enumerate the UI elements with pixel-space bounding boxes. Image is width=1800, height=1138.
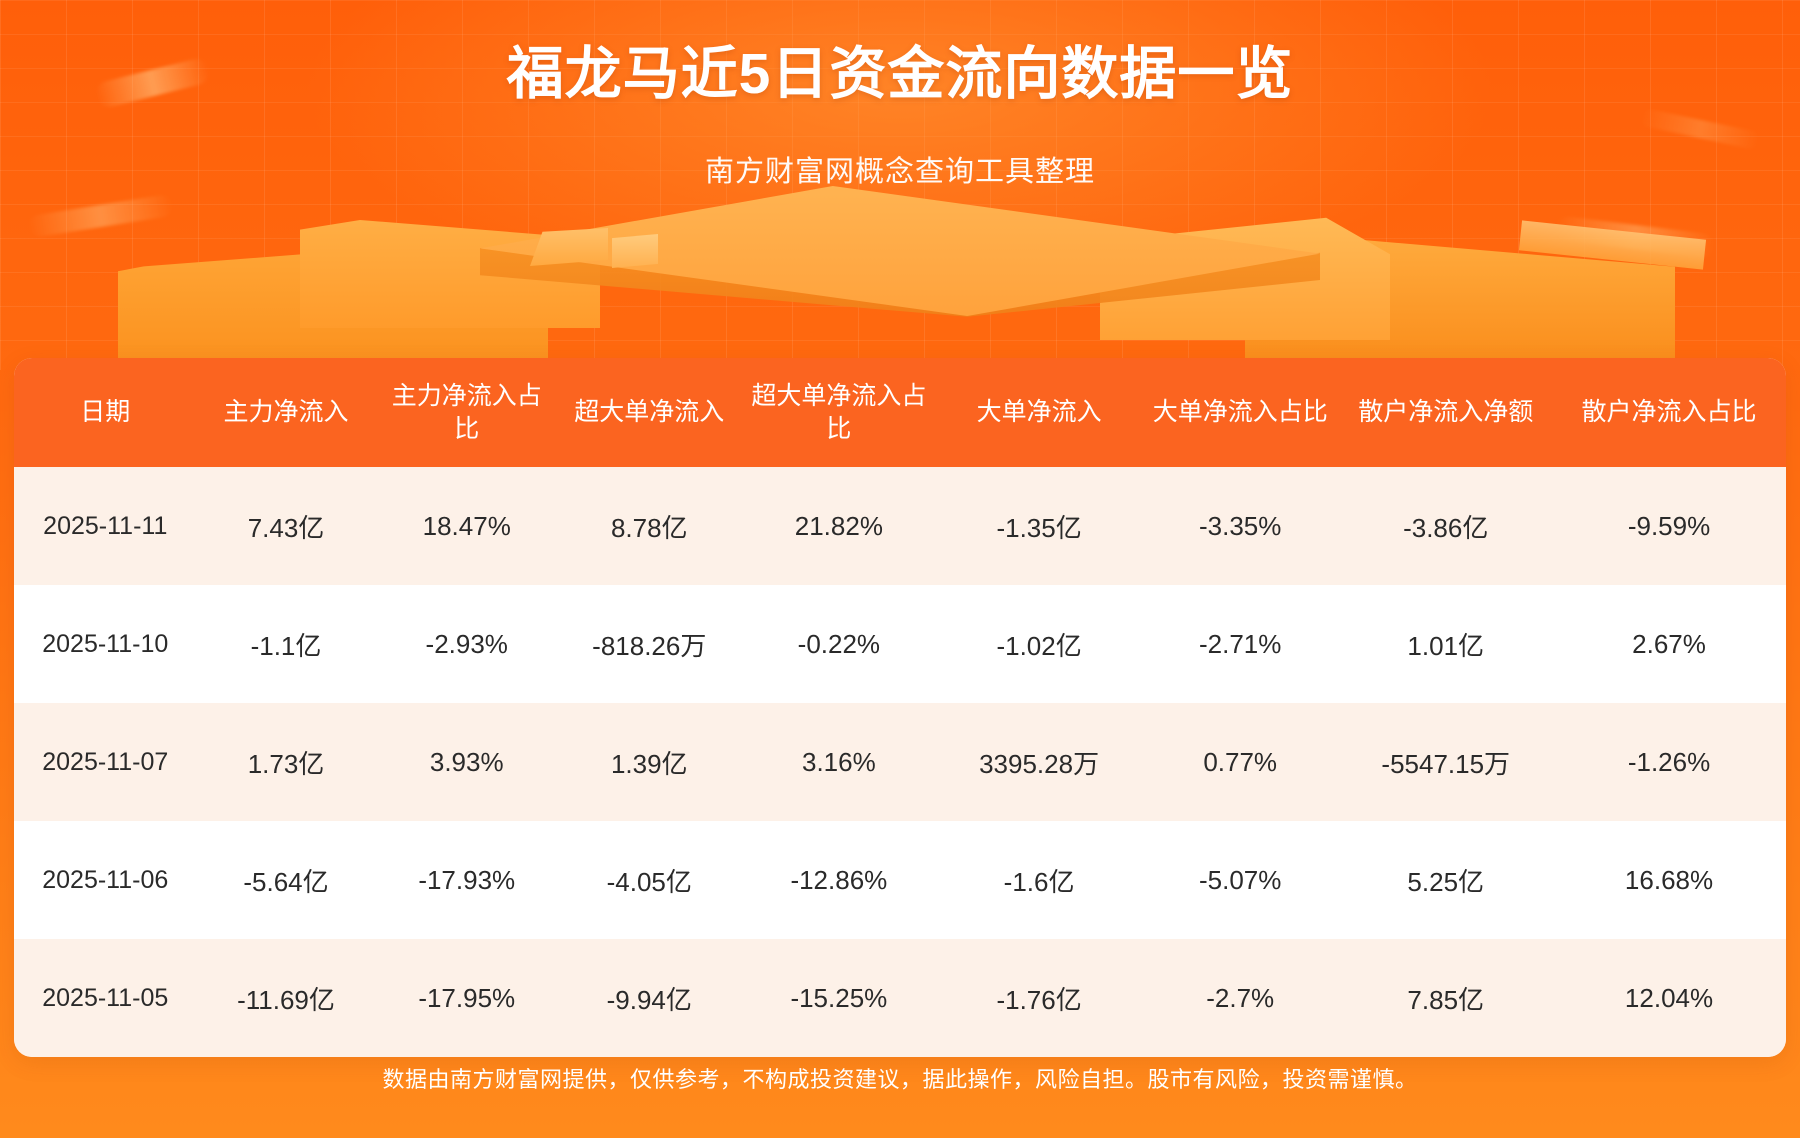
cell-xl-net: -818.26万 <box>558 585 741 703</box>
poster-root: 福龙马近5日资金流向数据一览 南方财富网概念查询工具整理 南方财富网 South… <box>0 0 1800 1138</box>
cell-lg-pct: -5.07% <box>1141 821 1339 939</box>
cell-retail-net: -3.86亿 <box>1339 467 1552 585</box>
cell-xl-net: 8.78亿 <box>558 467 741 585</box>
cell-xl-pct: -0.22% <box>741 585 938 703</box>
cell-main-net: -11.69亿 <box>197 939 376 1057</box>
decor-streak-4 <box>1639 108 1760 151</box>
table-row: 2025-11-07 1.73亿 3.93% 1.39亿 3.16% 3395.… <box>14 703 1786 821</box>
table-header-row: 日期 主力净流入 主力净流入占比 超大单净流入 超大单净流入占比 大单净流入 大… <box>14 358 1786 467</box>
cell-xl-net: -4.05亿 <box>558 821 741 939</box>
fund-flow-table: 日期 主力净流入 主力净流入占比 超大单净流入 超大单净流入占比 大单净流入 大… <box>14 358 1786 1057</box>
cell-main-net: 1.73亿 <box>197 703 376 821</box>
table-row: 2025-11-06 -5.64亿 -17.93% -4.05亿 -12.86%… <box>14 821 1786 939</box>
page-title: 福龙马近5日资金流向数据一览 <box>0 42 1800 108</box>
column-header-retail-pct[interactable]: 散户净流入占比 <box>1552 358 1786 467</box>
cell-main-pct: 3.93% <box>375 703 558 821</box>
cell-date: 2025-11-05 <box>14 939 197 1057</box>
column-header-xl-net[interactable]: 超大单净流入 <box>558 358 741 467</box>
cell-retail-net: 7.85亿 <box>1339 939 1552 1057</box>
podium-illustration <box>0 186 1800 386</box>
podium-block-right <box>1245 234 1675 360</box>
cell-xl-pct: -12.86% <box>741 821 938 939</box>
table-header: 日期 主力净流入 主力净流入占比 超大单净流入 超大单净流入占比 大单净流入 大… <box>14 358 1786 467</box>
cell-xl-net: 1.39亿 <box>558 703 741 821</box>
podium-block-right-2 <box>1100 210 1390 340</box>
podium-block-left-2 <box>300 208 600 328</box>
cell-xl-pct: -15.25% <box>741 939 938 1057</box>
cell-retail-net: 5.25亿 <box>1339 821 1552 939</box>
cell-lg-net: -1.76亿 <box>937 939 1141 1057</box>
column-header-date[interactable]: 日期 <box>14 358 197 467</box>
table-row: 2025-11-11 7.43亿 18.47% 8.78亿 21.82% -1.… <box>14 467 1786 585</box>
disclaimer-text: 数据由南方财富网提供，仅供参考，不构成投资建议，据此操作，风险自担。股市有风险，… <box>0 1062 1800 1094</box>
cell-main-net: -1.1亿 <box>197 585 376 703</box>
cell-main-pct: -2.93% <box>375 585 558 703</box>
column-header-main-pct[interactable]: 主力净流入占比 <box>375 358 558 467</box>
cell-lg-net: -1.35亿 <box>937 467 1141 585</box>
cell-retail-pct: 12.04% <box>1552 939 1786 1057</box>
cell-retail-pct: 16.68% <box>1552 821 1786 939</box>
table-row: 2025-11-05 -11.69亿 -17.95% -9.94亿 -15.25… <box>14 939 1786 1057</box>
cell-main-pct: -17.93% <box>375 821 558 939</box>
cell-lg-pct: -2.7% <box>1141 939 1339 1057</box>
column-header-xl-pct[interactable]: 超大单净流入占比 <box>741 358 938 467</box>
cell-date: 2025-11-11 <box>14 467 197 585</box>
cell-lg-net: 3395.28万 <box>937 703 1141 821</box>
podium-block-center <box>480 186 1320 316</box>
column-header-lg-pct[interactable]: 大单净流入占比 <box>1141 358 1339 467</box>
cell-date: 2025-11-10 <box>14 585 197 703</box>
page-subtitle: 南方财富网概念查询工具整理 <box>0 148 1800 190</box>
cell-lg-net: -1.02亿 <box>937 585 1141 703</box>
cell-main-pct: 18.47% <box>375 467 558 585</box>
cell-main-pct: -17.95% <box>375 939 558 1057</box>
column-header-retail-net[interactable]: 散户净流入净额 <box>1339 358 1552 467</box>
cell-retail-net: 1.01亿 <box>1339 585 1552 703</box>
cell-xl-net: -9.94亿 <box>558 939 741 1057</box>
cell-date: 2025-11-07 <box>14 703 197 821</box>
cell-main-net: -5.64亿 <box>197 821 376 939</box>
cell-retail-pct: -9.59% <box>1552 467 1786 585</box>
decor-streak-2 <box>27 194 174 238</box>
cell-date: 2025-11-06 <box>14 821 197 939</box>
podium-block-small-2 <box>612 234 658 268</box>
column-header-lg-net[interactable]: 大单净流入 <box>937 358 1141 467</box>
cell-retail-pct: 2.67% <box>1552 585 1786 703</box>
cell-lg-pct: -2.71% <box>1141 585 1339 703</box>
cell-lg-pct: 0.77% <box>1141 703 1339 821</box>
fund-flow-table-card: 南方财富网 Southmoney.com 日期 主力净流入 主力净流入占比 <box>14 358 1786 1057</box>
cell-xl-pct: 3.16% <box>741 703 938 821</box>
cell-xl-pct: 21.82% <box>741 467 938 585</box>
podium-block-small-1 <box>530 228 608 266</box>
cell-retail-net: -5547.15万 <box>1339 703 1552 821</box>
table-body: 2025-11-11 7.43亿 18.47% 8.78亿 21.82% -1.… <box>14 467 1786 1057</box>
podium-block-left <box>118 240 548 360</box>
podium-block-center-face <box>480 248 1320 328</box>
column-header-main-net[interactable]: 主力净流入 <box>197 358 376 467</box>
cell-lg-pct: -3.35% <box>1141 467 1339 585</box>
decor-streak-3 <box>1554 215 1716 258</box>
podium-block-shelf <box>1519 220 1706 269</box>
table-row: 2025-11-10 -1.1亿 -2.93% -818.26万 -0.22% … <box>14 585 1786 703</box>
cell-main-net: 7.43亿 <box>197 467 376 585</box>
cell-lg-net: -1.6亿 <box>937 821 1141 939</box>
cell-retail-pct: -1.26% <box>1552 703 1786 821</box>
